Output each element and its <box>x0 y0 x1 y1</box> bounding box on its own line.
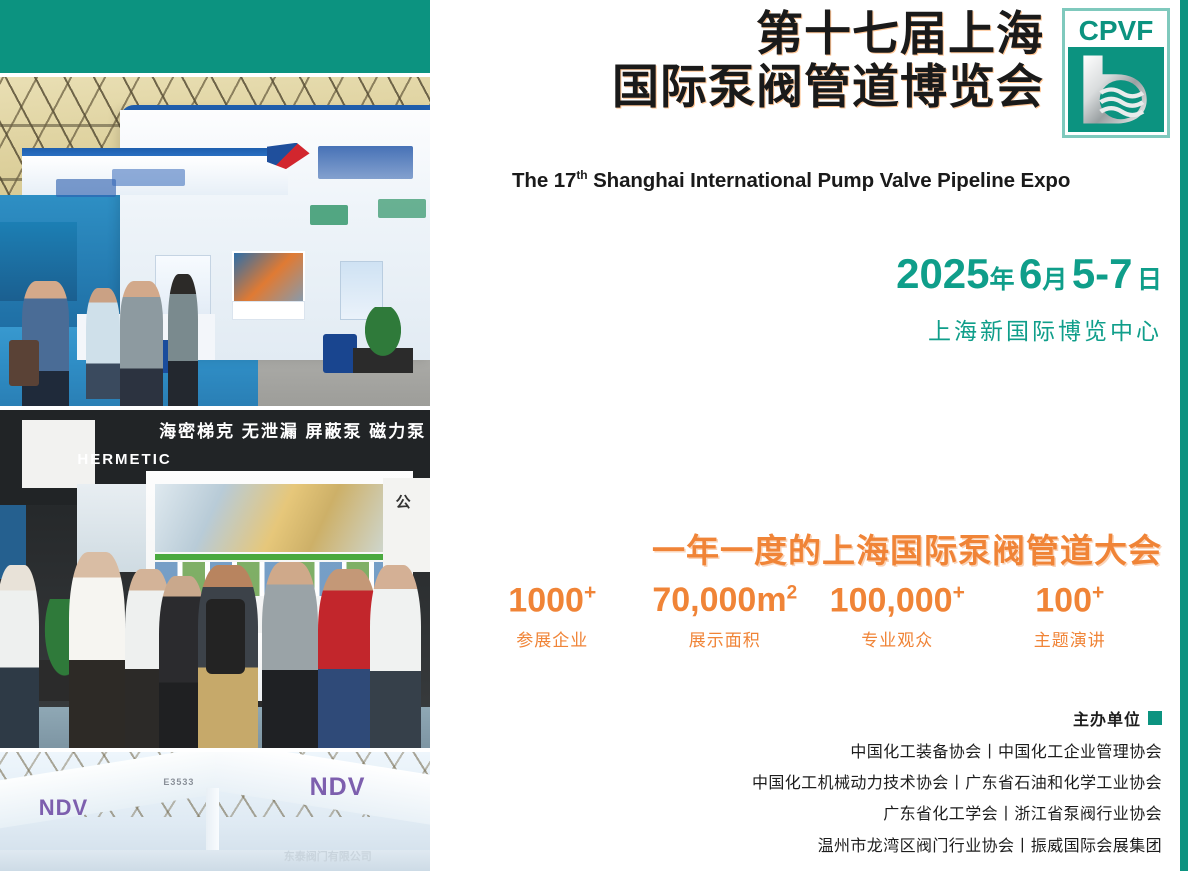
hermetic-wordmark: HERMETIC <box>77 451 171 468</box>
visitor-figure <box>120 281 163 406</box>
product-banner <box>155 484 404 552</box>
banner-chinese-text: 海密梯克 无泄漏 屏蔽泵 磁力泵 <box>159 417 426 442</box>
event-days: 5-7 <box>1072 250 1133 297</box>
organizer-line: 温州市龙湾区阀门行业协会丨振威国际会展集团 <box>752 831 1162 862</box>
teal-square-icon <box>1148 711 1162 725</box>
booth-brand-logo-3 <box>112 169 185 185</box>
event-year-unit: 年 <box>990 266 1015 294</box>
event-year: 2025 <box>896 250 989 297</box>
photo-yuanda-valve-booth <box>0 77 430 406</box>
event-month-unit: 月 <box>1042 266 1067 294</box>
company-chinese-name: 东泰阀门有限公司 <box>284 848 372 864</box>
english-title: The 17th Shanghai International Pump Val… <box>512 168 1170 193</box>
stat-item: 1000+ 参展企业 <box>466 582 639 651</box>
english-title-rest: Shanghai International Pump Valve Pipeli… <box>587 169 1070 192</box>
page-title: 第十七届上海 国际泵阀管道博览会 <box>612 8 1044 113</box>
event-day-unit: 日 <box>1137 266 1162 294</box>
title-line-1: 第十七届上海 <box>612 8 1044 61</box>
neighbor-sign-1 <box>310 205 349 225</box>
stats-row: 1000+ 参展企业 70,000m2 展示面积 100,000+ 专业观众 1… <box>448 582 1166 651</box>
organizers-block: 主办单位 中国化工装备协会丨中国化工企业管理协会 中国化工机械动力技术协会丨广东… <box>752 706 1162 862</box>
stat-label: 主题演讲 <box>984 626 1157 651</box>
neighbor-booth-text: 公 <box>396 491 411 512</box>
stat-number: 100,000+ <box>811 582 984 619</box>
organizers-heading-label: 主办单位 <box>1073 706 1141 730</box>
organizer-line: 中国化工机械动力技术协会丨广东省石油和化学工业协会 <box>752 768 1162 799</box>
stat-value: 70,000m <box>652 581 786 619</box>
visitor-figure <box>86 288 120 400</box>
booth-brand-logo-2 <box>56 179 116 197</box>
stat-label: 展示面积 <box>639 626 812 651</box>
right-teal-edge-bar <box>1180 0 1188 871</box>
stat-number: 70,000m2 <box>639 582 812 619</box>
stat-value: 1000 <box>508 581 584 619</box>
organizer-line: 广东省化工学会丨浙江省泵阀行业协会 <box>752 799 1162 830</box>
organizer-line: 中国化工装备协会丨中国化工企业管理协会 <box>752 737 1162 768</box>
stat-value: 100 <box>1035 581 1092 619</box>
visitor-figure <box>168 274 198 406</box>
photo-ndv-booth: NDV NDV E3533 东泰阀门有限公司 <box>0 752 430 871</box>
stat-number: 100+ <box>984 582 1157 619</box>
stat-suffix: + <box>1092 581 1104 604</box>
stand-number: E3533 <box>163 777 194 787</box>
stat-item: 70,000m2 展示面积 <box>639 582 812 651</box>
ndv-wordmark-left: NDV <box>39 795 88 821</box>
cpvf-logo-text: CPVF <box>1068 14 1164 47</box>
teal-accent-bar <box>0 0 430 73</box>
organizers-heading: 主办单位 <box>752 706 1162 730</box>
neighbor-sign-2 <box>378 199 425 219</box>
stat-number: 1000+ <box>466 582 639 619</box>
stat-suffix: + <box>584 581 596 604</box>
visitor-figure <box>370 565 422 748</box>
ndv-wordmark-right: NDV <box>310 773 366 802</box>
shoulder-bag <box>9 340 39 386</box>
booth-brand-logo <box>318 146 413 179</box>
event-month: 6 <box>1019 250 1042 297</box>
title-line-2: 国际泵阀管道博览会 <box>612 61 1044 114</box>
visitor-figure <box>69 552 125 748</box>
english-title-prefix: The 17 <box>512 169 576 192</box>
stat-label: 参展企业 <box>466 626 639 651</box>
cpvf-logo: CPVF <box>1062 8 1170 138</box>
english-title-ordinal: th <box>576 168 587 182</box>
photo-column: 公 HERMETIC 海密梯克 无泄漏 屏蔽泵 磁力泵 <box>0 0 430 871</box>
event-date: 2025年 6月 5-7 日 <box>896 250 1162 298</box>
pump-wave-glyph-icon <box>1068 47 1164 132</box>
potted-plant <box>353 307 413 373</box>
visitor-figure <box>262 562 318 748</box>
backpack <box>206 599 245 673</box>
stat-item: 100+ 主题演讲 <box>984 582 1157 651</box>
visitor-figure <box>0 565 39 748</box>
event-slogan: 一年一度的上海国际泵阀管道大会 <box>652 524 1162 572</box>
green-divider <box>155 554 404 561</box>
stat-label: 专业观众 <box>811 626 984 651</box>
stat-superscript: 2 <box>787 583 798 604</box>
title-row: 第十七届上海 国际泵阀管道博览会 CPVF <box>490 8 1170 138</box>
stat-suffix: + <box>953 581 965 604</box>
poster-page: 公 HERMETIC 海密梯克 无泄漏 屏蔽泵 磁力泵 <box>0 0 1188 871</box>
event-venue: 上海新国际博览中心 <box>928 312 1162 346</box>
photo-hermetic-booth: 公 HERMETIC 海密梯克 无泄漏 屏蔽泵 磁力泵 <box>0 410 430 748</box>
stat-item: 100,000+ 专业观众 <box>811 582 984 651</box>
stat-value: 100,000 <box>830 581 953 619</box>
display-panel-caption <box>232 301 305 321</box>
content-column: 第十七届上海 国际泵阀管道博览会 CPVF <box>430 0 1180 871</box>
